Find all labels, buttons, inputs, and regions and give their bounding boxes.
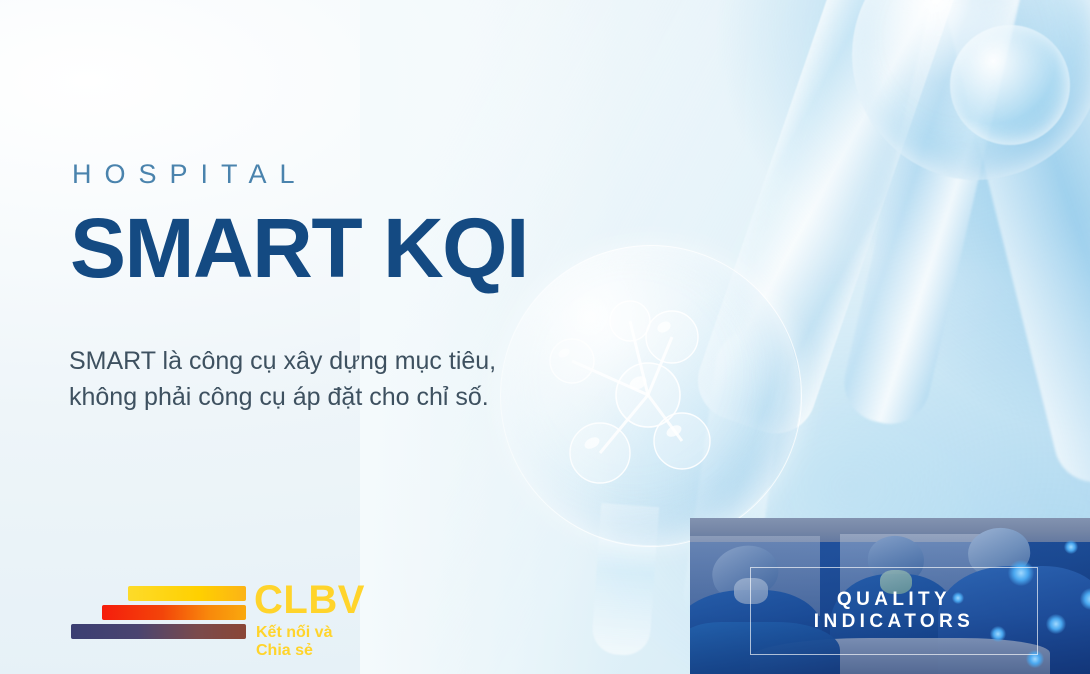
presentation-slide: HOSPITAL SMART KQI SMART là công cụ xây … (0, 0, 1090, 674)
logo-bar-navy-brown (71, 624, 246, 639)
slide-subtitle: SMART là công cụ xây dựng mục tiêu, khôn… (69, 344, 496, 415)
slide-kicker: HOSPITAL (72, 159, 308, 190)
page-title: SMART KQI (70, 206, 528, 290)
glass-bubble-icon (950, 25, 1070, 145)
quality-indicators-caption: QUALITY INDICATORS (753, 589, 1035, 633)
molecule-icon (500, 245, 800, 545)
glow-dot (1064, 540, 1078, 554)
logo-bar-red-orange (102, 605, 246, 620)
glow-dot (1046, 614, 1066, 634)
logo-bar-yellow (128, 586, 246, 601)
logo-wordmark: CLBV (254, 580, 365, 620)
clbv-logo: CLBV Kết nối và Chia sẻ (68, 586, 368, 644)
logo-tagline: Kết nối và Chia sẻ (256, 624, 368, 660)
